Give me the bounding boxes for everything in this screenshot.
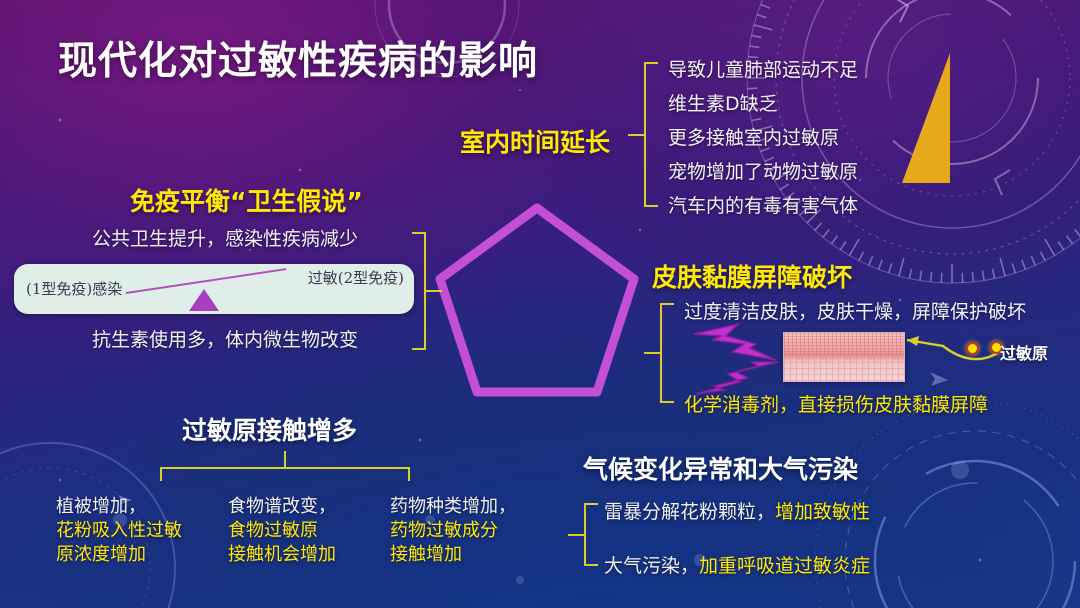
climate-row-1-yellow: 增加致敏性	[775, 501, 870, 523]
allergen-col3-line1: 药物种类增加，	[390, 492, 516, 518]
bracket-hygiene	[410, 232, 434, 350]
allergen-dot-1	[966, 342, 979, 355]
section-heading-skin-barrier: 皮肤黏膜屏障破坏	[652, 258, 852, 294]
climate-row-1: 雷暴分解花粉颗粒，增加致敏性	[604, 497, 870, 524]
allergen-col2-line1: 食物谱改变，	[228, 492, 336, 518]
bracket-climate	[576, 503, 600, 566]
allergen-col2-line2: 食物过敏原	[228, 516, 318, 542]
indoor-time-item-5: 汽车内的有毒有害气体	[668, 191, 858, 218]
allergen-col1-line3: 原浓度增加	[56, 540, 146, 566]
section-heading-allergen-exposure: 过敏原接触增多	[182, 411, 357, 447]
allergen-col3-line3: 接触增加	[390, 540, 462, 566]
immune-balance-card: (1型免疫)感染 过敏(2型免疫)	[14, 264, 414, 314]
balance-fulcrum	[189, 289, 219, 311]
allergen-col1-line1: 植被增加，	[56, 492, 146, 518]
skin-barrier-line-1: 过度清洁皮肤，皮肤干燥，屏障保护破坏	[684, 297, 1026, 324]
indoor-time-item-3: 更多接触室内过敏原	[668, 123, 839, 150]
balance-label-right: 过敏(2型免疫)	[308, 267, 404, 288]
allergen-label: 过敏原	[1000, 340, 1048, 364]
climate-row-2-white: 大气污染，	[604, 555, 699, 577]
hygiene-bottom-line: 抗生素使用多，体内微生物改变	[92, 325, 358, 352]
section-heading-climate: 气候变化异常和大气污染	[583, 450, 858, 486]
page-title: 现代化对过敏性疾病的影响	[58, 30, 538, 86]
slide-canvas: 现代化对过敏性疾病的影响 室内时间延长 导致儿童肺部运动不足 维生素D缺乏 更多…	[0, 0, 1080, 608]
lightning-bolt-icon	[692, 322, 792, 398]
indoor-time-item-2: 维生素D缺乏	[668, 89, 778, 116]
allergen-arrow-icon	[895, 330, 1005, 370]
climate-row-2: 大气污染，加重呼吸道过敏炎症	[604, 551, 870, 578]
arrow-decoration-right	[930, 372, 948, 386]
section-heading-hygiene-hypothesis: 免疫平衡“卫生假说”	[130, 182, 363, 218]
indoor-time-item-4: 宠物增加了动物过敏原	[668, 157, 858, 184]
hygiene-top-line: 公共卫生提升，感染性疾病减少	[92, 224, 358, 251]
allergen-col2-line3: 接触机会增加	[228, 540, 336, 566]
indoor-time-item-1: 导致儿童肺部运动不足	[668, 55, 858, 82]
balance-label-left: (1型免疫)感染	[26, 278, 122, 299]
climate-row-2-yellow: 加重呼吸道过敏炎症	[699, 555, 870, 577]
bracket-skin-barrier	[652, 303, 676, 403]
allergen-col3-line2: 药物过敏成分	[390, 516, 498, 542]
skin-tissue-illustration	[783, 332, 905, 382]
climate-row-1-white: 雷暴分解花粉颗粒，	[604, 501, 775, 523]
bracket-indoor-time	[636, 62, 660, 207]
bracket-allergen-exposure	[160, 459, 410, 483]
pentagon-shape	[432, 200, 642, 400]
gold-triangle-decoration	[902, 53, 950, 183]
allergen-col1-line2: 花粉吸入性过敏	[56, 516, 182, 542]
section-heading-indoor-time: 室内时间延长	[460, 123, 610, 159]
